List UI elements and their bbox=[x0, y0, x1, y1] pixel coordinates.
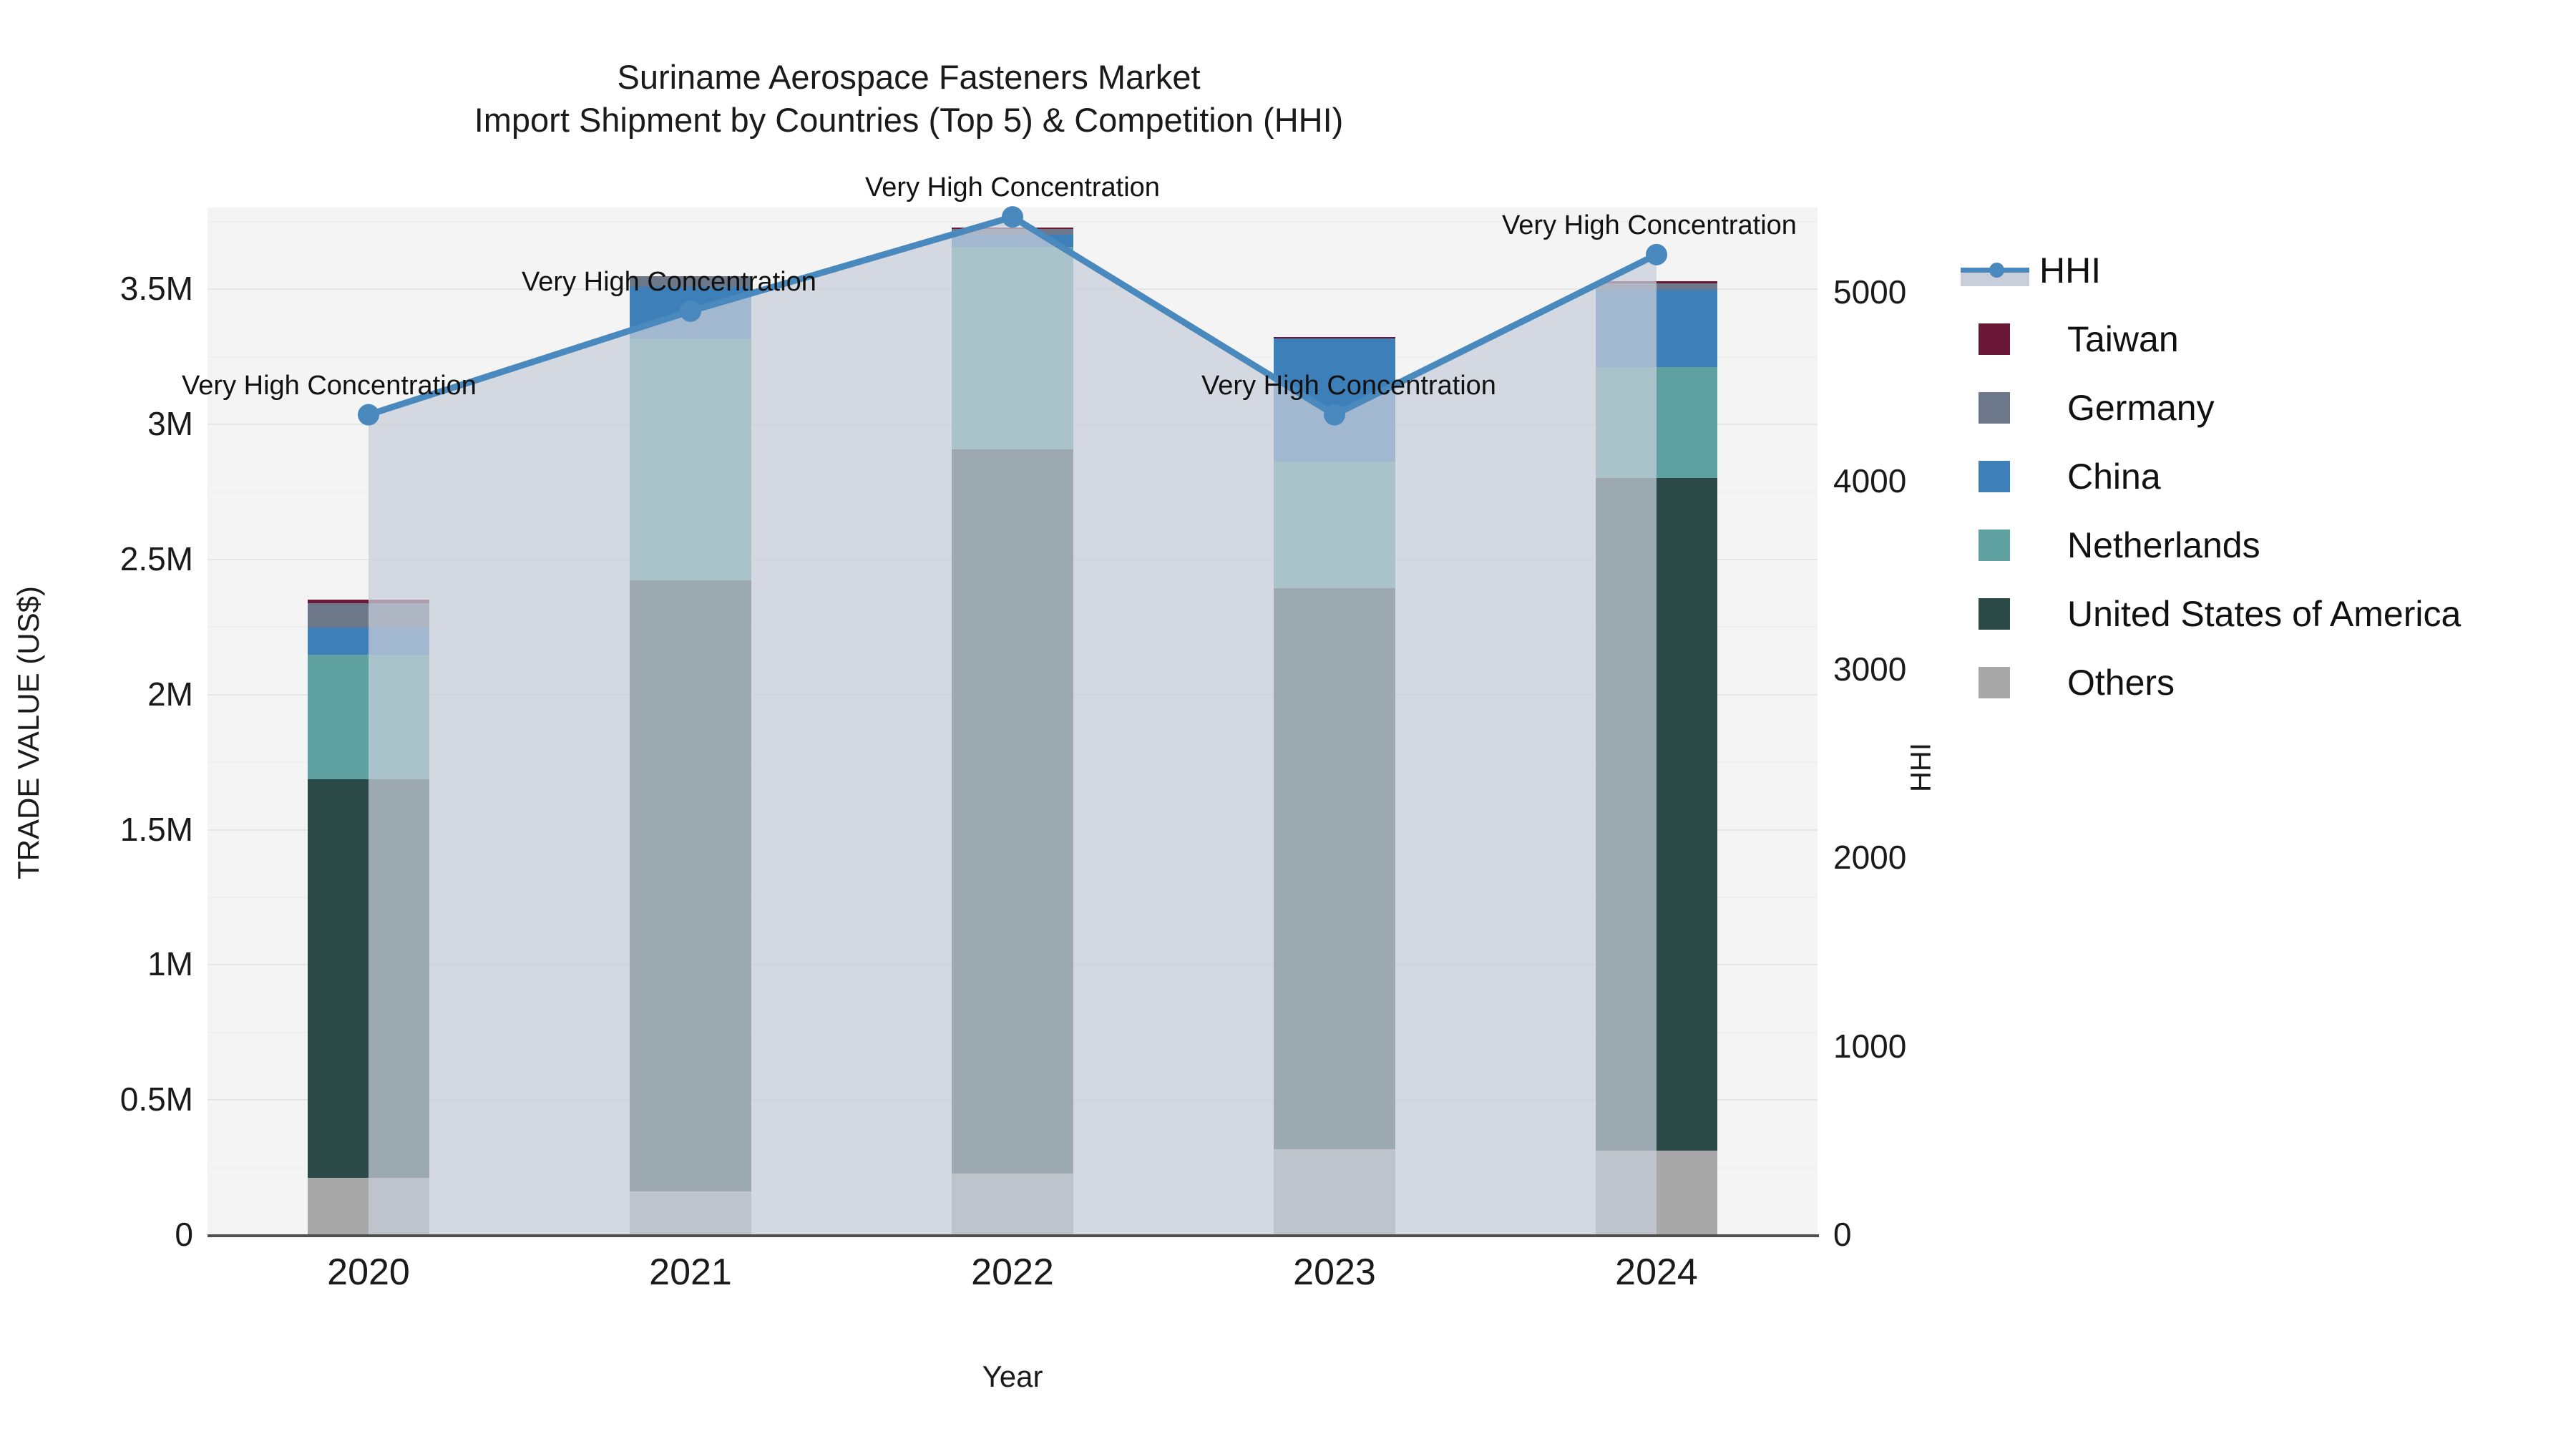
x-axis-line bbox=[208, 1234, 1819, 1237]
bar-segment[interactable] bbox=[1274, 588, 1395, 1149]
legend-item-label: Taiwan bbox=[2067, 318, 2179, 360]
y-axis-left-tick-label: 3M bbox=[0, 404, 193, 443]
y-axis-left-tick-label: 1M bbox=[0, 945, 193, 983]
legend-color-swatch-icon bbox=[1979, 323, 2010, 355]
bar-segment[interactable] bbox=[1274, 462, 1395, 588]
bar-segment[interactable] bbox=[308, 655, 429, 779]
y-axis-right-tick-label: 5000 bbox=[1833, 273, 1906, 311]
legend-item[interactable]: China bbox=[1961, 442, 2547, 511]
bar-segment[interactable] bbox=[952, 449, 1073, 1174]
y-axis-right-tick-label: 3000 bbox=[1833, 650, 1906, 688]
y-axis-right-tick-label: 4000 bbox=[1833, 462, 1906, 500]
bar-segment[interactable] bbox=[308, 628, 429, 655]
hhi-annotation-label: Very High Concentration bbox=[522, 267, 816, 298]
bar-segment[interactable] bbox=[1596, 367, 1717, 478]
bar-segment[interactable] bbox=[1274, 337, 1395, 338]
bar-segment[interactable] bbox=[630, 338, 751, 580]
chart-root: Suriname Aerospace Fasteners Market Impo… bbox=[0, 0, 2576, 1449]
bar-segment[interactable] bbox=[952, 228, 1073, 229]
bar-segment[interactable] bbox=[308, 779, 429, 1178]
legend-line-swatch-icon bbox=[1961, 255, 2029, 286]
legend-color-swatch-icon bbox=[1979, 530, 2010, 561]
y-axis-left-tick-label: 0 bbox=[0, 1215, 193, 1254]
y-axis-left-tick-label: 0.5M bbox=[0, 1080, 193, 1118]
bar-segment[interactable] bbox=[1596, 281, 1717, 283]
legend-item-label: United States of America bbox=[2067, 593, 2461, 635]
legend-color-swatch-icon bbox=[1979, 392, 2010, 424]
bar-segment[interactable] bbox=[952, 247, 1073, 449]
bar-segment[interactable] bbox=[952, 235, 1073, 247]
hhi-annotation-label: Very High Concentration bbox=[1201, 371, 1496, 401]
x-axis-tick-label: 2021 bbox=[649, 1251, 732, 1294]
legend-color-swatch-icon bbox=[1979, 461, 2010, 492]
legend: HHITaiwanGermanyChinaNetherlandsUnited S… bbox=[1961, 236, 2547, 717]
hhi-annotation-label: Very High Concentration bbox=[1502, 210, 1797, 241]
y-axis-right-title: HHI bbox=[1906, 696, 1938, 839]
legend-item-label: Others bbox=[2067, 662, 2175, 703]
legend-color-swatch-icon bbox=[1979, 598, 2010, 630]
bar-segment[interactable] bbox=[308, 603, 429, 628]
bar-segment[interactable] bbox=[1596, 290, 1717, 367]
bar-segment[interactable] bbox=[630, 1191, 751, 1234]
legend-item-label: Netherlands bbox=[2067, 525, 2260, 566]
bar-segment[interactable] bbox=[1596, 283, 1717, 290]
x-axis-title: Year bbox=[208, 1360, 1818, 1394]
chart-title-line-1: Suriname Aerospace Fasteners Market bbox=[0, 56, 1818, 99]
y-axis-right-tick-label: 1000 bbox=[1833, 1027, 1906, 1065]
chart-title-line-2: Import Shipment by Countries (Top 5) & C… bbox=[0, 99, 1818, 142]
legend-item[interactable]: HHI bbox=[1961, 236, 2547, 305]
bar-segment[interactable] bbox=[1596, 1151, 1717, 1234]
x-axis-tick-label: 2020 bbox=[327, 1251, 410, 1294]
hhi-annotation-label: Very High Concentration bbox=[865, 172, 1160, 203]
hhi-annotation-label: Very High Concentration bbox=[182, 371, 477, 401]
y-axis-left-tick-label: 3.5M bbox=[0, 269, 193, 308]
bar-segment[interactable] bbox=[308, 600, 429, 604]
x-axis-tick-label: 2022 bbox=[971, 1251, 1054, 1294]
legend-item[interactable]: Netherlands bbox=[1961, 511, 2547, 580]
bar-segment[interactable] bbox=[952, 229, 1073, 235]
legend-item[interactable]: United States of America bbox=[1961, 580, 2547, 648]
bar-segment[interactable] bbox=[952, 1174, 1073, 1234]
legend-item-label: China bbox=[2067, 456, 2161, 497]
bar-segment[interactable] bbox=[1274, 1149, 1395, 1234]
chart-title: Suriname Aerospace Fasteners Market Impo… bbox=[0, 56, 1818, 142]
y-axis-right-tick-label: 2000 bbox=[1833, 838, 1906, 877]
bar-segment[interactable] bbox=[630, 580, 751, 1191]
legend-item[interactable]: Others bbox=[1961, 648, 2547, 717]
legend-item[interactable]: Taiwan bbox=[1961, 305, 2547, 374]
legend-item-label: HHI bbox=[2039, 250, 2101, 291]
x-axis-tick-label: 2023 bbox=[1293, 1251, 1376, 1294]
y-axis-left-title: TRADE VALUE (US$) bbox=[11, 582, 46, 883]
bar-segment[interactable] bbox=[1596, 478, 1717, 1151]
y-axis-right-tick-label: 0 bbox=[1833, 1215, 1852, 1254]
x-axis-tick-label: 2024 bbox=[1615, 1251, 1698, 1294]
legend-item-label: Germany bbox=[2067, 387, 2215, 429]
bar-segment[interactable] bbox=[308, 1178, 429, 1234]
legend-color-swatch-icon bbox=[1979, 667, 2010, 698]
legend-item[interactable]: Germany bbox=[1961, 374, 2547, 442]
y-axis-left-tick-label: 2.5M bbox=[0, 540, 193, 578]
